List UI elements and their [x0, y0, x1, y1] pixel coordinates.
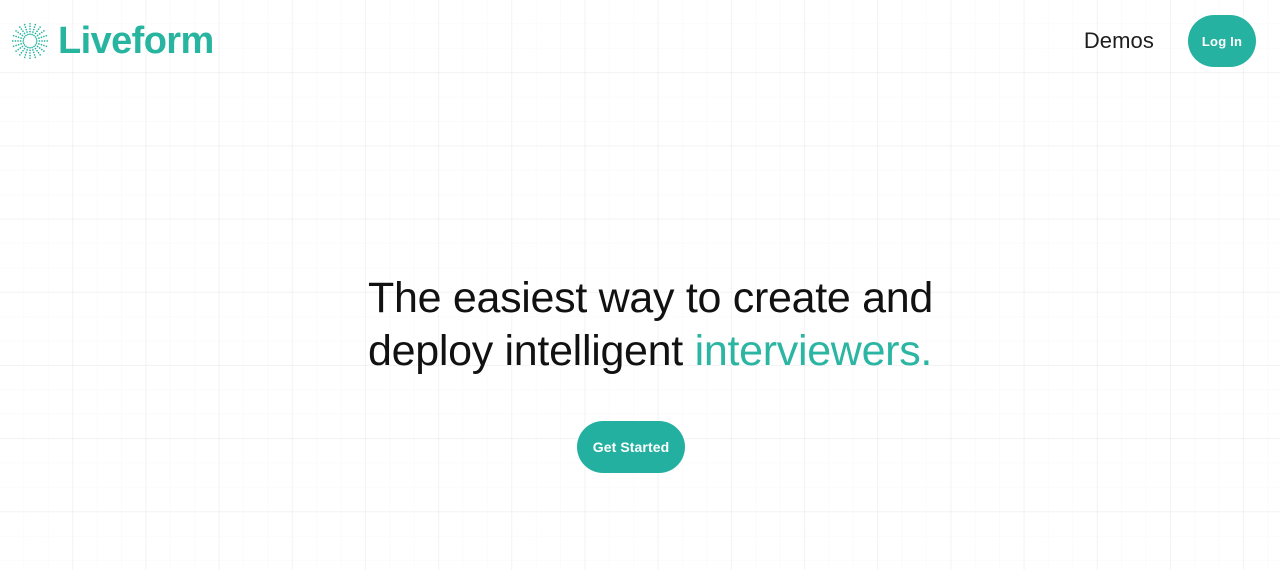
hero-section: The easiest way to create and deploy int…	[0, 0, 1280, 570]
get-started-button[interactable]: Get Started	[577, 421, 685, 473]
starburst-icon	[10, 21, 50, 61]
primary-nav: Demos Log In	[1084, 15, 1256, 67]
brand-name: Liveform	[58, 22, 214, 60]
page-title: The easiest way to create and deploy int…	[368, 272, 1008, 378]
site-header: Liveform Demos Log In	[0, 0, 1280, 82]
login-button[interactable]: Log In	[1188, 15, 1256, 67]
nav-link-demos[interactable]: Demos	[1084, 30, 1154, 52]
headline-accent-text: interviewers.	[695, 327, 932, 375]
brand-logo[interactable]: Liveform	[10, 21, 214, 61]
cta-container: Get Started	[0, 421, 1262, 473]
